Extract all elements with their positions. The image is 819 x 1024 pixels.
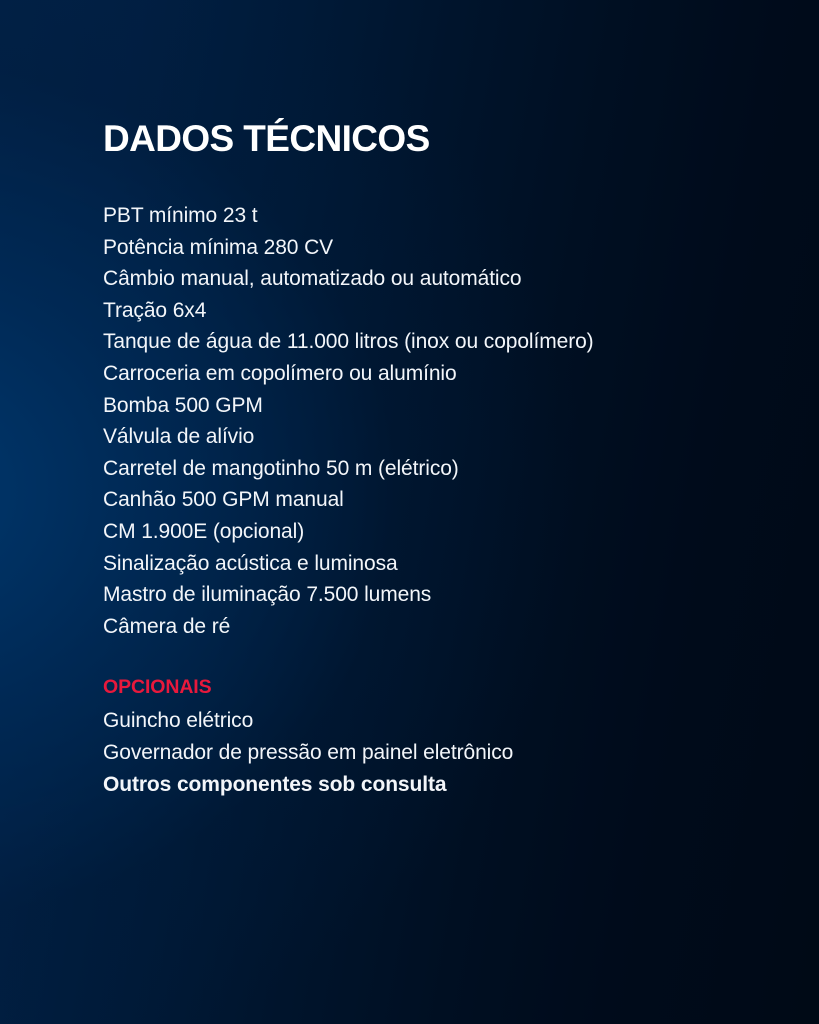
spec-line: Câmbio manual, automatizado ou automátic… xyxy=(103,263,763,295)
spec-line: Válvula de alívio xyxy=(103,421,763,453)
technical-specs-list: PBT mínimo 23 tPotência mínima 280 CVCâm… xyxy=(103,200,763,642)
spec-line: PBT mínimo 23 t xyxy=(103,200,763,232)
spec-line: Potência mínima 280 CV xyxy=(103,232,763,264)
optionals-list: Guincho elétricoGovernador de pressão em… xyxy=(103,705,763,800)
optional-line: Governador de pressão em painel eletrôni… xyxy=(103,737,763,769)
spec-line: Mastro de iluminação 7.500 lumens xyxy=(103,579,763,611)
spec-line: Canhão 500 GPM manual xyxy=(103,484,763,516)
spec-line: Bomba 500 GPM xyxy=(103,390,763,422)
optionals-section-heading: OPCIONAIS xyxy=(103,642,763,701)
spec-line: Câmera de ré xyxy=(103,611,763,643)
spec-line: Sinalização acústica e luminosa xyxy=(103,548,763,580)
technical-data-slide: DADOS TÉCNICOS PBT mínimo 23 tPotência m… xyxy=(0,0,819,1024)
spec-line: Tração 6x4 xyxy=(103,295,763,327)
content-container: DADOS TÉCNICOS PBT mínimo 23 tPotência m… xyxy=(103,118,763,800)
spec-line: Carretel de mangotinho 50 m (elétrico) xyxy=(103,453,763,485)
spec-line: CM 1.900E (opcional) xyxy=(103,516,763,548)
spec-line: Carroceria em copolímero ou alumínio xyxy=(103,358,763,390)
optional-line: Guincho elétrico xyxy=(103,705,763,737)
optional-line: Outros componentes sob consulta xyxy=(103,769,763,801)
spec-line: Tanque de água de 11.000 litros (inox ou… xyxy=(103,326,763,358)
page-title: DADOS TÉCNICOS xyxy=(103,118,763,160)
